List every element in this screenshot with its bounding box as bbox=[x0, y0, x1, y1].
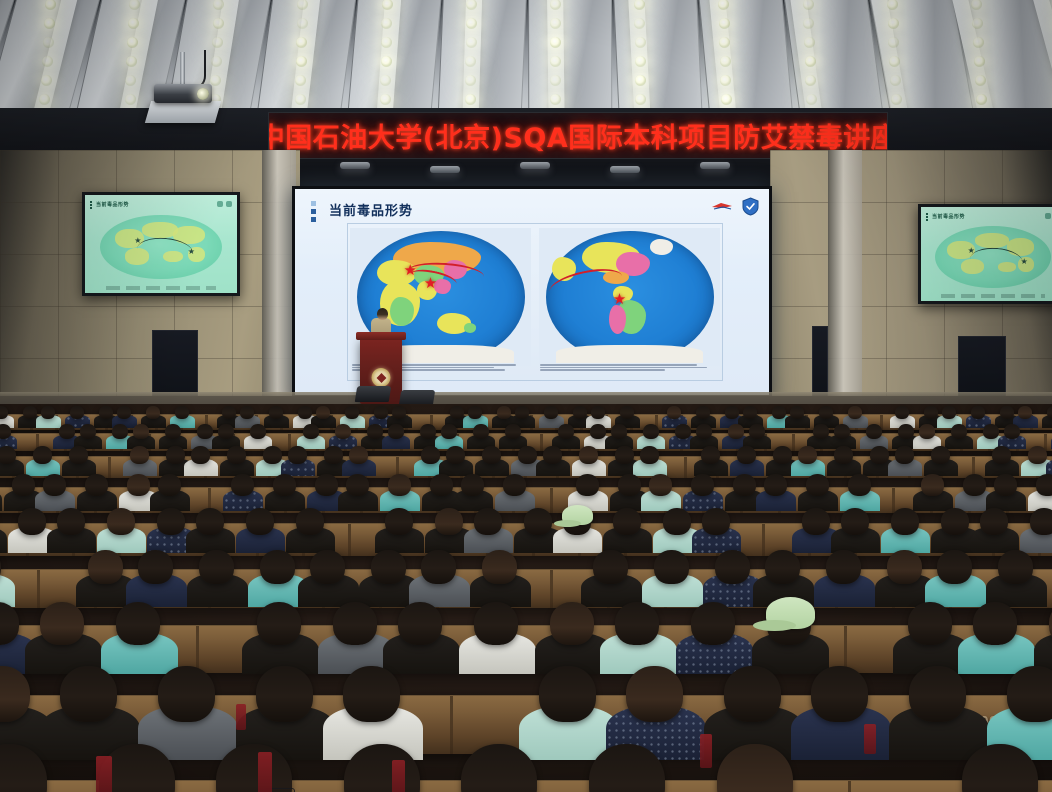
right-monitor-title: 当前毒品形势 bbox=[932, 213, 965, 220]
audience-member-head bbox=[558, 424, 574, 439]
audience-member-head bbox=[663, 508, 691, 535]
audience-member-head bbox=[503, 474, 526, 496]
audience-member-head bbox=[895, 446, 914, 464]
audience-member-head bbox=[430, 474, 453, 496]
ceiling-downlight bbox=[805, 56, 816, 67]
seat-cushion bbox=[700, 734, 712, 768]
right-monitor-map: ★ ★ bbox=[935, 226, 1050, 288]
audience-member-head bbox=[951, 424, 967, 439]
ceiling-downlight bbox=[466, 37, 477, 48]
audience-member-head bbox=[260, 550, 295, 584]
audience-member-head bbox=[573, 406, 587, 419]
audience-member-head bbox=[848, 406, 862, 419]
audience-member-head bbox=[765, 550, 800, 584]
audience-member-head bbox=[18, 508, 46, 535]
lecture-hall-photo: 中国石油大学(北京)SQA国际本科项目防艾禁毒讲座 当前毒品形势 ★ ★ bbox=[0, 0, 1052, 792]
audience-member-head bbox=[246, 508, 274, 535]
audience-member-head bbox=[197, 424, 213, 439]
audience-member-head bbox=[482, 550, 517, 584]
audience-member-head bbox=[806, 474, 829, 496]
audience-member-head bbox=[841, 508, 869, 535]
ceiling-downlight bbox=[803, 0, 814, 10]
audience-member-head bbox=[772, 406, 786, 419]
marker-golden-triangle: ★ bbox=[424, 276, 437, 291]
left-wall-monitor: 当前毒品形势 ★ ★ bbox=[82, 192, 240, 296]
soffit-spotlight bbox=[430, 166, 460, 173]
ceiling-downlight bbox=[719, 18, 730, 29]
podium-top bbox=[356, 332, 406, 340]
audience-member-head bbox=[191, 446, 210, 464]
speaker-head bbox=[377, 308, 388, 320]
globe-west: ★ bbox=[546, 231, 714, 363]
audience-member-head bbox=[116, 602, 160, 645]
right-monitor-caption bbox=[941, 294, 1045, 298]
ceiling-downlight bbox=[297, 18, 308, 29]
ceiling-panel bbox=[528, 0, 612, 122]
audience-member-head bbox=[250, 424, 266, 439]
seat-divider bbox=[37, 570, 40, 608]
audience-member-head bbox=[802, 508, 830, 535]
seat-cushion bbox=[236, 704, 246, 730]
audience-member-head bbox=[618, 474, 641, 496]
audience-member-head bbox=[749, 424, 765, 439]
audience-member-head bbox=[69, 446, 88, 464]
audience-member-head bbox=[620, 406, 634, 419]
ceiling-downlight bbox=[44, 18, 55, 29]
audience-member-head bbox=[543, 446, 562, 464]
audience-member-head bbox=[870, 446, 889, 464]
seat-divider bbox=[550, 488, 553, 513]
audience-member-head bbox=[983, 424, 999, 439]
seat-divider bbox=[684, 457, 687, 478]
ceiling-downlight bbox=[381, 37, 392, 48]
audience-member-head bbox=[579, 446, 598, 464]
audience-member-head bbox=[980, 508, 1008, 535]
audience-member-head bbox=[1004, 424, 1020, 439]
audience-member-head bbox=[273, 474, 296, 496]
audience-member-head bbox=[196, 508, 224, 535]
audience-member-head bbox=[675, 424, 691, 439]
audience-member-head bbox=[482, 446, 501, 464]
seat-cushion bbox=[392, 760, 405, 792]
ceiling-downlight bbox=[973, 37, 984, 48]
baseball-cap bbox=[562, 505, 593, 525]
audience-member-head bbox=[941, 508, 969, 535]
projector-mount-pole bbox=[180, 52, 185, 86]
audience-member-head bbox=[737, 446, 756, 464]
audience-member-head bbox=[1036, 474, 1052, 496]
audience-member-head bbox=[0, 424, 11, 439]
left-monitor-title: 当前毒品形势 bbox=[96, 201, 129, 208]
soffit-spotlight bbox=[340, 162, 370, 169]
audience-member-head bbox=[973, 602, 1017, 645]
audience-member-head bbox=[88, 550, 123, 584]
audience-member-head bbox=[1047, 406, 1052, 419]
audience-member-head bbox=[41, 406, 55, 419]
audience-member-head bbox=[446, 446, 465, 464]
audience-member-head bbox=[107, 508, 135, 535]
wall-panel-seam bbox=[770, 306, 1052, 307]
audience-member-head bbox=[701, 446, 720, 464]
right-wall-monitor: 当前毒品形势 ★ ★ bbox=[918, 204, 1052, 304]
audience-member-head bbox=[909, 666, 966, 722]
audience-member-head bbox=[473, 424, 489, 439]
audience-member-head bbox=[691, 602, 735, 645]
audience-member-head bbox=[227, 446, 246, 464]
audience-member-head bbox=[165, 424, 181, 439]
audience-member-head bbox=[518, 446, 537, 464]
audience-member-head bbox=[764, 474, 787, 496]
audience-member-head bbox=[497, 406, 511, 419]
audience-member-head bbox=[866, 424, 882, 439]
audience-member-head bbox=[891, 508, 919, 535]
ceiling-downlight bbox=[296, 56, 307, 67]
audience-member-head bbox=[398, 602, 442, 645]
audience-member-head bbox=[333, 602, 377, 645]
audience-member-head bbox=[924, 406, 938, 419]
projector-lens bbox=[197, 88, 209, 100]
slide-bullet-marks bbox=[311, 201, 316, 222]
audience-member-head bbox=[346, 474, 369, 496]
marker-golden-crescent: ★ bbox=[404, 263, 417, 278]
ceiling-downlight bbox=[380, 94, 391, 105]
seat-divider bbox=[540, 434, 543, 451]
map-hemisphere-west: ★ bbox=[539, 228, 720, 366]
audience-member-head bbox=[420, 424, 436, 439]
audience-member-head bbox=[288, 446, 307, 464]
red-blue-emblem-logo bbox=[711, 199, 733, 213]
ceiling-downlight bbox=[721, 94, 732, 105]
audience-member-head bbox=[505, 424, 521, 439]
audience-member-head bbox=[611, 424, 627, 439]
audience-member-head bbox=[343, 666, 400, 722]
map-caption bbox=[352, 364, 718, 378]
audience-member-head bbox=[654, 550, 689, 584]
audience-member-head bbox=[640, 446, 659, 464]
ceiling-panel bbox=[436, 0, 528, 122]
ceiling-downlight bbox=[466, 18, 477, 29]
audience-member-head bbox=[524, 508, 552, 535]
audience-member-head bbox=[57, 508, 85, 535]
audience-member-head bbox=[388, 424, 404, 439]
audience-member-head bbox=[887, 550, 922, 584]
ceiling-downlight bbox=[975, 75, 986, 86]
audience-member-head bbox=[931, 446, 950, 464]
audience-member-head bbox=[1028, 446, 1047, 464]
right-monitor-bullets bbox=[926, 213, 928, 221]
audience-member-head bbox=[937, 550, 972, 584]
audience-member-head bbox=[743, 406, 757, 419]
marker-silver-triangle: ★ bbox=[613, 292, 626, 307]
left-monitor-screen: 当前毒品形势 ★ ★ bbox=[85, 195, 237, 293]
projector-ceiling-plate bbox=[145, 101, 221, 123]
audience-member-head bbox=[303, 424, 319, 439]
audience-member-head bbox=[474, 508, 502, 535]
audience-member-head bbox=[1000, 406, 1014, 419]
baseball-cap bbox=[766, 597, 815, 629]
seat-cushion bbox=[258, 752, 272, 792]
audience-member-head bbox=[157, 508, 185, 535]
blue-shield-check-logo bbox=[742, 197, 759, 216]
audience-member-head bbox=[345, 406, 359, 419]
audience-member-head bbox=[12, 474, 35, 496]
audience-member-head bbox=[257, 602, 301, 645]
audience-member-head bbox=[112, 424, 128, 439]
audience-member-head bbox=[1030, 508, 1052, 535]
soffit-spotlight bbox=[700, 162, 730, 169]
audience-member-head bbox=[468, 406, 482, 419]
wall-panel-seam bbox=[0, 306, 300, 307]
audience-member-head bbox=[146, 406, 160, 419]
audience-member-head bbox=[392, 406, 406, 419]
audience-member-head bbox=[544, 406, 558, 419]
audience-member-head bbox=[813, 424, 829, 439]
audience-member-head bbox=[921, 474, 944, 496]
podium-university-crest bbox=[372, 368, 391, 387]
wall-panel-seam bbox=[0, 150, 300, 151]
audience-member-head bbox=[324, 446, 343, 464]
seat-divider bbox=[550, 570, 553, 608]
audience-member-head bbox=[1007, 666, 1052, 722]
audience-member-head bbox=[158, 474, 181, 496]
seat-divider bbox=[196, 626, 199, 673]
right-monitor-logos bbox=[1045, 213, 1052, 219]
audience-member-head bbox=[133, 424, 149, 439]
audience-member-head bbox=[315, 474, 338, 496]
seat-divider bbox=[762, 524, 765, 555]
audience-member-head bbox=[60, 666, 117, 722]
ceiling-downlight bbox=[213, 18, 224, 29]
audience-member-head bbox=[269, 406, 283, 419]
audience-member-head bbox=[998, 550, 1033, 584]
audience-member-head bbox=[696, 406, 710, 419]
audience-member-head bbox=[256, 666, 313, 722]
audience-member-head bbox=[175, 406, 189, 419]
audience-member-head bbox=[1018, 406, 1032, 419]
slide-title: 当前毒品形势 bbox=[329, 200, 413, 219]
audience-member-head bbox=[222, 406, 236, 419]
audience-member-head bbox=[461, 474, 484, 496]
audience-member-head bbox=[539, 666, 596, 722]
ceiling-downlight bbox=[635, 56, 646, 67]
right-monitor-screen: 当前毒品形势 ★ ★ bbox=[921, 207, 1052, 301]
audience-member-head bbox=[971, 406, 985, 419]
audience-member-head bbox=[728, 424, 744, 439]
audience-member-head bbox=[367, 424, 383, 439]
ceiling-downlight bbox=[43, 37, 54, 48]
audience-member-head bbox=[474, 602, 518, 645]
audience-member-head bbox=[992, 446, 1011, 464]
wall-panel-seam bbox=[770, 150, 1052, 151]
audience-member-head bbox=[811, 666, 868, 722]
ceiling-downlight bbox=[804, 37, 815, 48]
ceiling-downlight bbox=[295, 94, 306, 105]
audience-member-head bbox=[696, 424, 712, 439]
audience-member-head bbox=[99, 406, 113, 419]
audience-member-head bbox=[908, 602, 952, 645]
audience-member-head bbox=[550, 602, 594, 645]
audience-member-head bbox=[371, 550, 406, 584]
world-drug-route-map: ★ ★ bbox=[347, 223, 723, 381]
audience-member-head bbox=[834, 446, 853, 464]
audience-member-head bbox=[130, 446, 149, 464]
seat-divider bbox=[892, 488, 895, 513]
audience-member-head bbox=[166, 446, 185, 464]
seat-divider bbox=[348, 524, 351, 555]
ceiling-downlight bbox=[976, 94, 987, 105]
audience-member-head bbox=[715, 550, 750, 584]
audience-member-head bbox=[450, 406, 464, 419]
ceiling-downlight bbox=[125, 94, 136, 105]
audience-member-head bbox=[643, 424, 659, 439]
audience-member-head bbox=[733, 474, 756, 496]
audience-member-head bbox=[895, 406, 909, 419]
audience-member-head bbox=[138, 550, 173, 584]
audience-member-head bbox=[691, 474, 714, 496]
audience-member-head bbox=[296, 508, 324, 535]
ceiling-downlight bbox=[466, 0, 477, 10]
wall-panel-seam bbox=[770, 202, 1052, 203]
audience-member-head bbox=[349, 446, 368, 464]
audience-member-head bbox=[667, 406, 681, 419]
audience-member-head bbox=[834, 424, 850, 439]
audience-member-head bbox=[421, 446, 440, 464]
audience-member-head bbox=[199, 550, 234, 584]
ceiling-downlight bbox=[974, 56, 985, 67]
audience-member-head bbox=[316, 406, 330, 419]
audience-member-head bbox=[117, 406, 131, 419]
ceiling-downlight bbox=[891, 94, 902, 105]
audience-member-head bbox=[725, 406, 739, 419]
audience-member-head bbox=[515, 406, 529, 419]
audience-area: 17090909 bbox=[0, 404, 1052, 792]
audience-member-head bbox=[819, 406, 833, 419]
audience-member-head bbox=[994, 474, 1017, 496]
audience-member-head bbox=[263, 446, 282, 464]
ceiling-downlight bbox=[720, 56, 731, 67]
seat-divider bbox=[792, 434, 795, 451]
left-monitor-caption bbox=[106, 286, 215, 290]
audience-member-head bbox=[388, 474, 411, 496]
audience-member-head bbox=[615, 602, 659, 645]
audience-member-head bbox=[919, 424, 935, 439]
audience-member-head bbox=[85, 474, 108, 496]
audience-member-head bbox=[773, 446, 792, 464]
audience-member-head bbox=[590, 424, 606, 439]
audience-member-head bbox=[240, 406, 254, 419]
ceiling-downlight bbox=[972, 18, 983, 29]
soffit-spotlight bbox=[610, 166, 640, 173]
audience-member-head bbox=[724, 666, 781, 722]
audience-member-head bbox=[231, 474, 254, 496]
ceiling-downlight bbox=[45, 0, 56, 10]
ceiling-downlight bbox=[42, 56, 53, 67]
audience-member-head bbox=[848, 474, 871, 496]
seat-divider bbox=[848, 781, 851, 792]
ceiling-downlight bbox=[887, 0, 898, 10]
audience-member-head bbox=[310, 550, 345, 584]
soffit-spotlight bbox=[520, 162, 550, 169]
audience-member-head bbox=[898, 424, 914, 439]
audience-member-head bbox=[43, 474, 66, 496]
left-monitor-bullets bbox=[90, 201, 92, 209]
audience-member-head bbox=[335, 424, 351, 439]
ceiling-projector bbox=[152, 52, 214, 122]
ceiling-downlight bbox=[41, 75, 52, 86]
wall-panel-seam bbox=[0, 358, 300, 359]
ceiling-panel bbox=[612, 0, 705, 122]
audience-member-head bbox=[942, 406, 956, 419]
audience-member-head bbox=[298, 406, 312, 419]
audience-member-head bbox=[702, 508, 730, 535]
audience-member-head bbox=[421, 550, 456, 584]
audience-member-head bbox=[70, 406, 84, 419]
stage-floor-monitor-left bbox=[355, 386, 392, 402]
audience-member-head bbox=[158, 666, 215, 722]
audience-member-head bbox=[33, 446, 52, 464]
ceiling-downlight bbox=[635, 37, 646, 48]
ceiling-downlight bbox=[381, 56, 392, 67]
audience-member-head bbox=[963, 474, 986, 496]
audience-member-head bbox=[0, 446, 16, 464]
audience-member-head bbox=[218, 424, 234, 439]
audience-member-head bbox=[591, 406, 605, 419]
audience-member-head bbox=[23, 406, 37, 419]
ceiling-downlight bbox=[888, 18, 899, 29]
ceiling-downlight bbox=[212, 37, 223, 48]
audience-member-head bbox=[615, 446, 634, 464]
audience-member-head bbox=[385, 508, 413, 535]
audience-member-head bbox=[40, 602, 84, 645]
audience-member-head bbox=[80, 424, 96, 439]
ceiling-downlight bbox=[890, 75, 901, 86]
seat-divider bbox=[450, 696, 453, 755]
audience-member-head bbox=[435, 508, 463, 535]
ceiling-downlight bbox=[382, 0, 393, 10]
seat-divider bbox=[108, 457, 111, 478]
audience-member-head bbox=[374, 406, 388, 419]
audience-member-head bbox=[626, 666, 683, 722]
audience-member-head bbox=[576, 474, 599, 496]
audience-member-head bbox=[790, 406, 804, 419]
audience-member-head bbox=[798, 446, 817, 464]
audience-member-head bbox=[613, 508, 641, 535]
left-monitor-logos bbox=[217, 201, 232, 207]
seat-cushion bbox=[96, 756, 112, 792]
ceiling-downlight bbox=[806, 94, 817, 105]
audience-member-head bbox=[593, 550, 628, 584]
seat-cushion bbox=[864, 724, 876, 754]
left-monitor-map: ★ ★ bbox=[100, 215, 222, 280]
audience-member-head bbox=[59, 424, 75, 439]
audience-member-head bbox=[826, 550, 861, 584]
audience-member-head bbox=[441, 424, 457, 439]
audience-member-head bbox=[127, 474, 150, 496]
audience-member-head bbox=[649, 474, 672, 496]
